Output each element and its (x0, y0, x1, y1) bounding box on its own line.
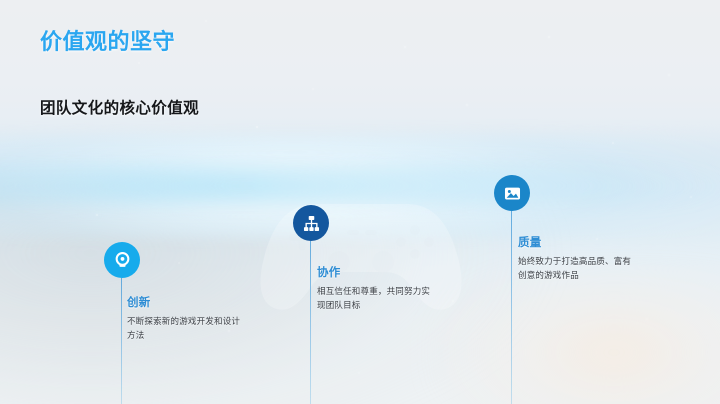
value-title-collaboration: 协作 (317, 264, 435, 280)
value-card-quality: 质量 始终致力于打造高品质、富有创意的游戏作品 (518, 234, 636, 283)
sitemap-icon (302, 214, 321, 233)
value-title-innovation: 创新 (127, 294, 245, 310)
value-title-quality: 质量 (518, 234, 636, 250)
page-subtitle: 团队文化的核心价值观 (40, 96, 199, 118)
slide-canvas: 价值观的坚守 团队文化的核心价值观 创新 不断探索新的游戏开发和设计方法 (0, 0, 720, 404)
page-title: 价值观的坚守 (40, 24, 640, 56)
badge-quality[interactable] (494, 175, 530, 211)
slide-header: 价值观的坚守 团队文化的核心价值观 (40, 24, 640, 56)
value-body-collaboration: 相互信任和尊重，共同努力实现团队目标 (317, 285, 435, 313)
value-card-collaboration: 协作 相互信任和尊重，共同努力实现团队目标 (317, 264, 435, 313)
badge-collaboration[interactable] (293, 205, 329, 241)
value-body-innovation: 不断探索新的游戏开发和设计方法 (127, 315, 245, 343)
value-card-innovation: 创新 不断探索新的游戏开发和设计方法 (127, 294, 245, 343)
connector-line-innovation (121, 278, 122, 404)
lightbulb-icon (113, 251, 132, 270)
connector-line-quality (511, 211, 512, 404)
image-icon (503, 184, 522, 203)
value-body-quality: 始终致力于打造高品质、富有创意的游戏作品 (518, 255, 636, 283)
badge-innovation[interactable] (104, 242, 140, 278)
connector-line-collaboration (310, 241, 311, 404)
